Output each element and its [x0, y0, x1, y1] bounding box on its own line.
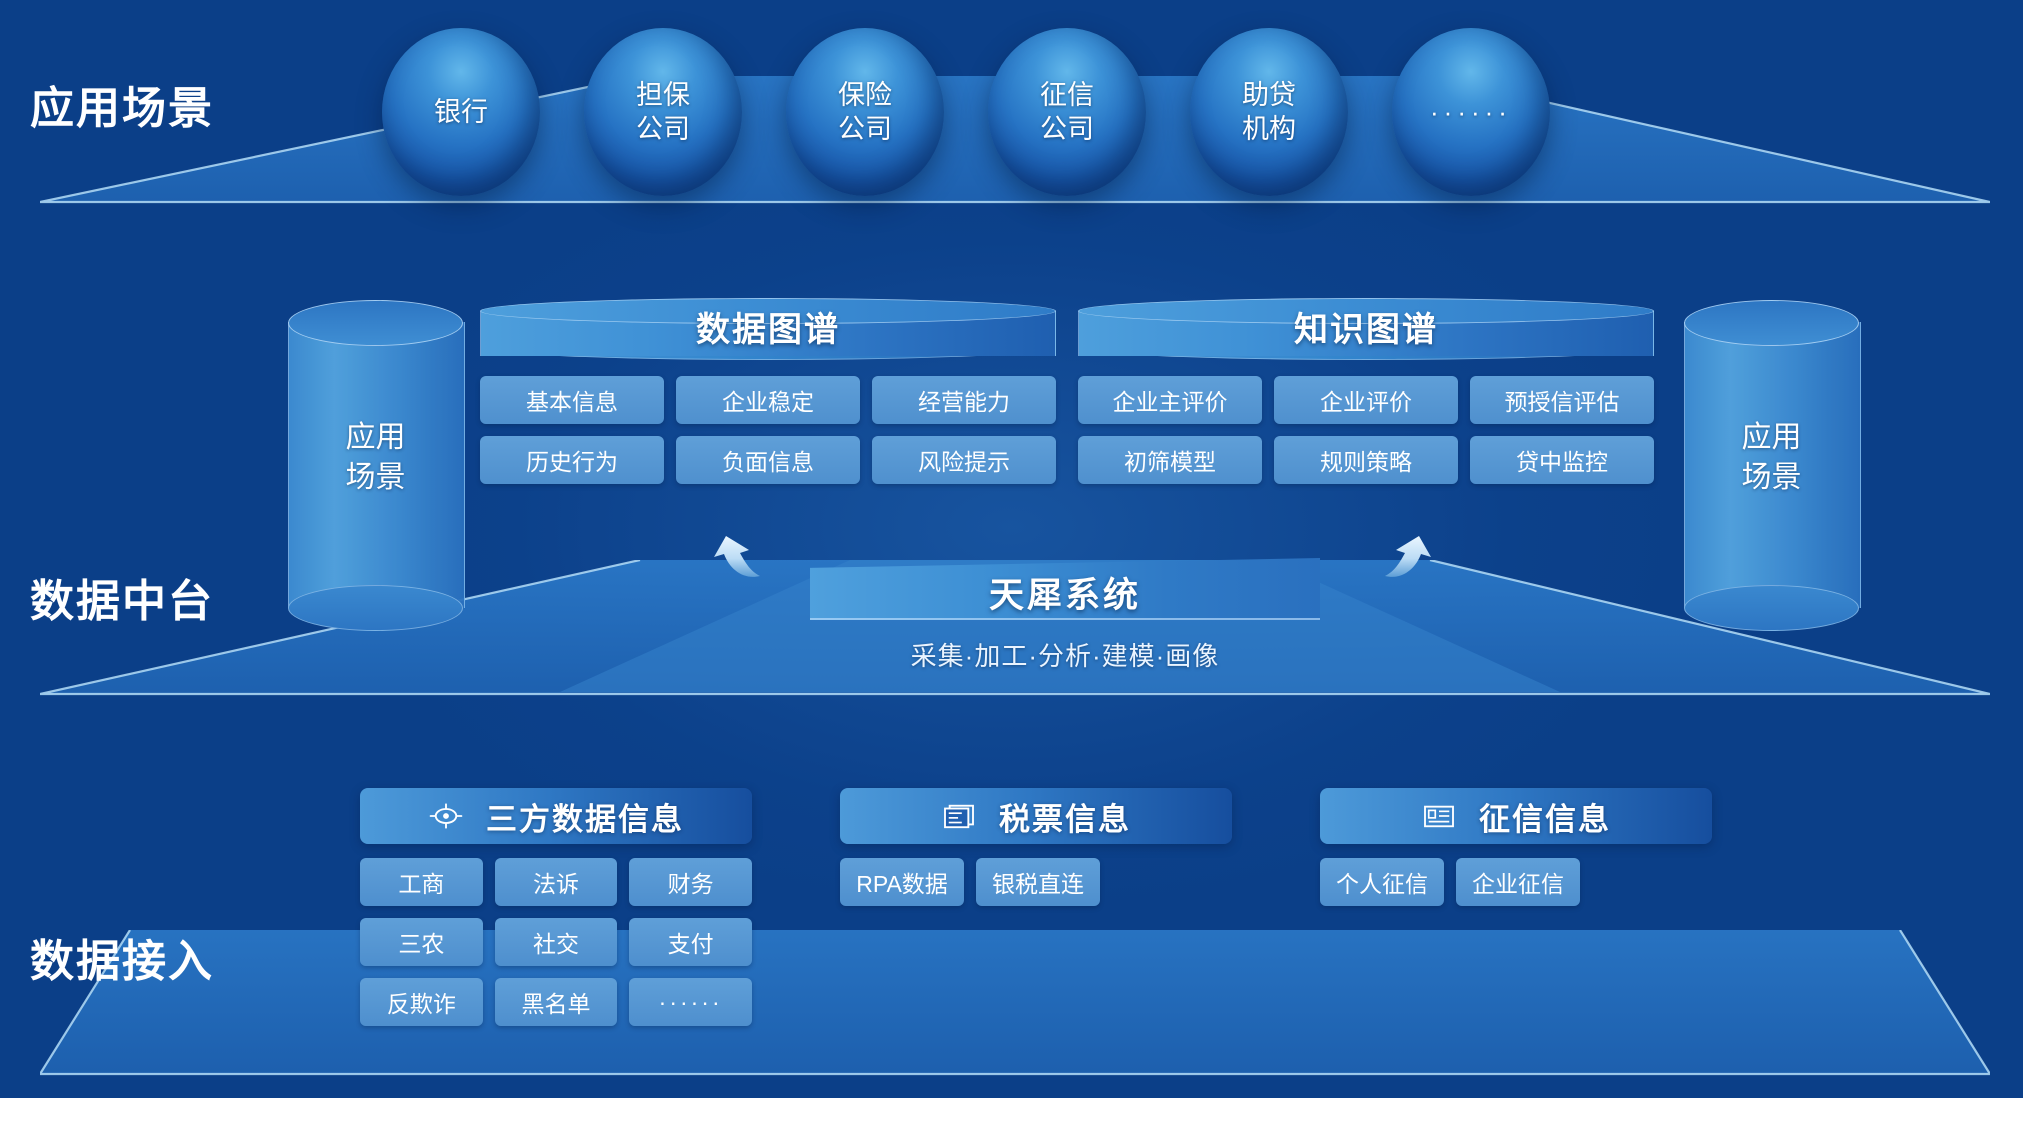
data-group-title: 征信信息: [1479, 794, 1611, 839]
tag-agriculture[interactable]: 三农: [360, 918, 483, 966]
data-tag-grid-third-party: 工商 法诉 财务 三农 社交 支付 反欺诈 黑名单 ······: [360, 858, 752, 1026]
cylinder-right-application-scene[interactable]: 应用 场景: [1684, 300, 1859, 630]
chip-grid-knowledge: 企业主评价 企业评价 预授信评估 初筛模型 规则策略 贷中监控: [1078, 376, 1654, 484]
sphere-label: 征信 公司: [1040, 78, 1094, 146]
chip-risk-alert[interactable]: 风险提示: [872, 436, 1056, 484]
tag-personal-credit[interactable]: 个人征信: [1320, 858, 1444, 906]
sphere-label: ······: [1430, 96, 1512, 129]
tag-blacklist[interactable]: 黑名单: [495, 978, 618, 1026]
section-label-data-access: 数据接入: [30, 925, 214, 989]
graph-block-data: 数据图谱 基本信息 企业稳定 经营能力 历史行为 负面信息 风险提示: [480, 298, 1056, 484]
sphere-more[interactable]: ······: [1392, 28, 1550, 196]
chip-loan-monitoring[interactable]: 贷中监控: [1470, 436, 1654, 484]
chip-operating-capability[interactable]: 经营能力: [872, 376, 1056, 424]
chip-rule-strategy[interactable]: 规则策略: [1274, 436, 1458, 484]
disc-knowledge-graph[interactable]: 知识图谱: [1078, 298, 1654, 362]
chip-owner-evaluation[interactable]: 企业主评价: [1078, 376, 1262, 424]
banner-title: 天犀系统: [810, 558, 1320, 620]
sphere-label: 担保 公司: [636, 78, 690, 146]
cylinder-bottom-ellipse: [288, 585, 463, 631]
data-group-header-credit-report[interactable]: 征信信息: [1320, 788, 1712, 844]
chip-basic-info[interactable]: 基本信息: [480, 376, 664, 424]
sphere-loan-agency[interactable]: 助贷 机构: [1190, 28, 1348, 196]
tag-rpa-data[interactable]: RPA数据: [840, 858, 964, 906]
chip-grid-data: 基本信息 企业稳定 经营能力 历史行为 负面信息 风险提示: [480, 376, 1056, 484]
chip-negative-info[interactable]: 负面信息: [676, 436, 860, 484]
tag-litigation[interactable]: 法诉: [495, 858, 618, 906]
data-tag-grid-tax-invoice: RPA数据 银税直连: [840, 858, 1100, 906]
diagram-canvas: 应用场景 数据中台 数据接入 银行 担保 公司 保险 公司 征信 公司 助贷 机…: [0, 0, 2023, 1130]
chip-enterprise-stability[interactable]: 企业稳定: [676, 376, 860, 424]
invoice-icon: [941, 801, 977, 831]
system-subtitle: 采集·加工·分析·建模·画像: [810, 636, 1320, 673]
cylinder-top-ellipse: [1684, 300, 1859, 346]
graph-block-knowledge: 知识图谱 企业主评价 企业评价 预授信评估 初筛模型 规则策略 贷中监控: [1078, 298, 1654, 484]
sphere-guarantee-company[interactable]: 担保 公司: [584, 28, 742, 196]
application-sphere-row: 银行 担保 公司 保险 公司 征信 公司 助贷 机构 ······: [382, 28, 1642, 198]
cylinder-bottom-ellipse: [1684, 585, 1859, 631]
tag-finance[interactable]: 财务: [629, 858, 752, 906]
chip-history-behavior[interactable]: 历史行为: [480, 436, 664, 484]
cylinder-label: 应用 场景: [1684, 418, 1859, 498]
cylinder-left-application-scene[interactable]: 应用 场景: [288, 300, 463, 630]
cylinder-label: 应用 场景: [288, 418, 463, 498]
tag-business-registration[interactable]: 工商: [360, 858, 483, 906]
chip-pre-credit-assessment[interactable]: 预授信评估: [1470, 376, 1654, 424]
data-group-title: 三方数据信息: [486, 794, 684, 839]
tag-more[interactable]: ······: [629, 978, 752, 1026]
tag-anti-fraud[interactable]: 反欺诈: [360, 978, 483, 1026]
sphere-label: 保险 公司: [838, 78, 892, 146]
data-group-header-tax-invoice[interactable]: 税票信息: [840, 788, 1232, 844]
disc-title: 数据图谱: [480, 302, 1056, 350]
tag-payment[interactable]: 支付: [629, 918, 752, 966]
platform-data-access: [40, 930, 1990, 1080]
tag-social[interactable]: 社交: [495, 918, 618, 966]
sphere-label: 银行: [434, 95, 488, 129]
tag-enterprise-credit[interactable]: 企业征信: [1456, 858, 1580, 906]
data-group-third-party: 三方数据信息 工商 法诉 财务 三农 社交 支付 反欺诈 黑名单 ······: [360, 788, 752, 1026]
disc-title: 知识图谱: [1078, 302, 1654, 350]
sphere-credit-company[interactable]: 征信 公司: [988, 28, 1146, 196]
id-card-icon: [1421, 801, 1457, 831]
chip-prescreen-model[interactable]: 初筛模型: [1078, 436, 1262, 484]
section-label-middle: 数据中台: [30, 565, 214, 629]
data-group-title: 税票信息: [999, 794, 1131, 839]
curved-arrow-up-left-icon: [700, 520, 780, 600]
data-group-header-third-party[interactable]: 三方数据信息: [360, 788, 752, 844]
cylinder-top-ellipse: [288, 300, 463, 346]
curved-arrow-up-right-icon: [1365, 520, 1445, 600]
data-group-tax-invoice: 税票信息 RPA数据 银税直连: [840, 788, 1232, 906]
section-label-application: 应用场景: [30, 72, 214, 136]
data-tag-grid-credit-report: 个人征信 企业征信: [1320, 858, 1580, 906]
disc-data-graph[interactable]: 数据图谱: [480, 298, 1056, 362]
data-group-credit-report: 征信信息 个人征信 企业征信: [1320, 788, 1712, 906]
tag-bank-tax-direct[interactable]: 银税直连: [976, 858, 1100, 906]
crosshair-target-icon: [428, 801, 464, 831]
sphere-bank[interactable]: 银行: [382, 28, 540, 196]
system-banner-tianxi[interactable]: 天犀系统: [810, 558, 1320, 620]
sphere-insurance-company[interactable]: 保险 公司: [786, 28, 944, 196]
sphere-label: 助贷 机构: [1242, 78, 1296, 146]
chip-enterprise-evaluation[interactable]: 企业评价: [1274, 376, 1458, 424]
